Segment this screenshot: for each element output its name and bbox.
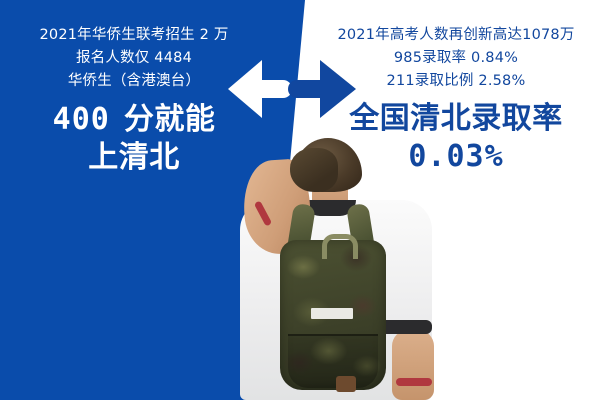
right-line-3: 211录取比例 2.58% bbox=[312, 72, 600, 91]
left-line-3: 华侨生（含港澳台） bbox=[0, 72, 268, 91]
left-headline-1: 400分就能 bbox=[0, 101, 268, 139]
left-headline-2: 上清北 bbox=[0, 139, 268, 177]
right-headline-1: 全国清北录取率 bbox=[312, 100, 600, 138]
left-headline-suffix: 分就能 bbox=[124, 102, 216, 137]
poster-root: 2021年华侨生联考招生 2 万 报名人数仅 4484 华侨生（含港澳台） 40… bbox=[0, 0, 600, 400]
left-line-1: 2021年华侨生联考招生 2 万 bbox=[0, 26, 268, 45]
left-text-block: 2021年华侨生联考招生 2 万 报名人数仅 4484 华侨生（含港澳台） 40… bbox=[0, 26, 268, 176]
student-photo bbox=[236, 138, 436, 400]
right-line-2: 985录取率 0.84% bbox=[312, 49, 600, 68]
right-arm bbox=[392, 330, 434, 400]
backpack-pocket bbox=[288, 334, 378, 388]
backpack-handle bbox=[322, 234, 358, 259]
backpack-patch bbox=[336, 376, 356, 392]
left-headline-number: 400 bbox=[53, 102, 110, 137]
right-line-1: 2021年高考人数再创新高达1078万 bbox=[312, 26, 600, 45]
hand bbox=[290, 148, 338, 192]
sleeve-cuff bbox=[380, 320, 432, 334]
wrist-band bbox=[396, 378, 432, 386]
left-line-2: 报名人数仅 4484 bbox=[0, 49, 268, 68]
backpack-label bbox=[311, 308, 353, 319]
